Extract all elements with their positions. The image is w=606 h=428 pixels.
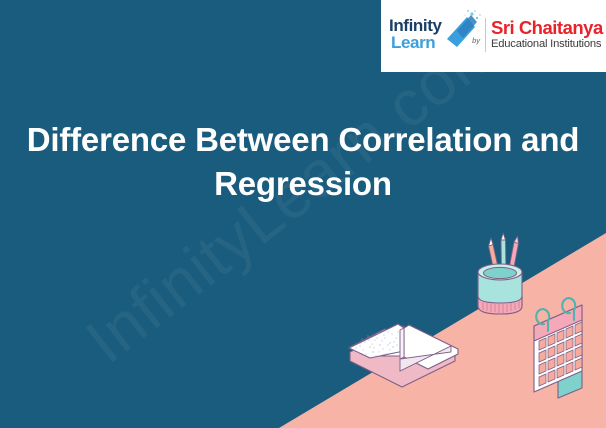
sri-chaitanya-title: Sri Chaitanya (491, 18, 603, 37)
logo-divider (485, 18, 486, 52)
banner-canvas: InfinityLearn.com Infinity Learn by (0, 0, 606, 428)
infinity-learn-word-learn: Learn (391, 34, 435, 51)
logo-by-label: by (472, 38, 480, 45)
page-title: Difference Between Correlation and Regre… (10, 118, 596, 205)
logo-container: Infinity Learn by Sri Chaitanya Educatio… (381, 0, 606, 72)
open-book-icon (349, 324, 458, 387)
sri-chaitanya-logo: Sri Chaitanya Educational Institutions (491, 18, 603, 51)
pencil-cup-icon (478, 233, 522, 314)
desk-illustration (330, 228, 606, 428)
infinity-swoosh-icon (441, 9, 483, 55)
logo-inner: Infinity Learn by Sri Chaitanya Educatio… (381, 0, 606, 72)
sri-chaitanya-subtitle: Educational Institutions (491, 38, 603, 50)
desk-calendar-icon (534, 298, 582, 398)
infinity-learn-word-infinity: Infinity (389, 17, 442, 34)
infinity-learn-logo: Infinity Learn (389, 17, 481, 57)
